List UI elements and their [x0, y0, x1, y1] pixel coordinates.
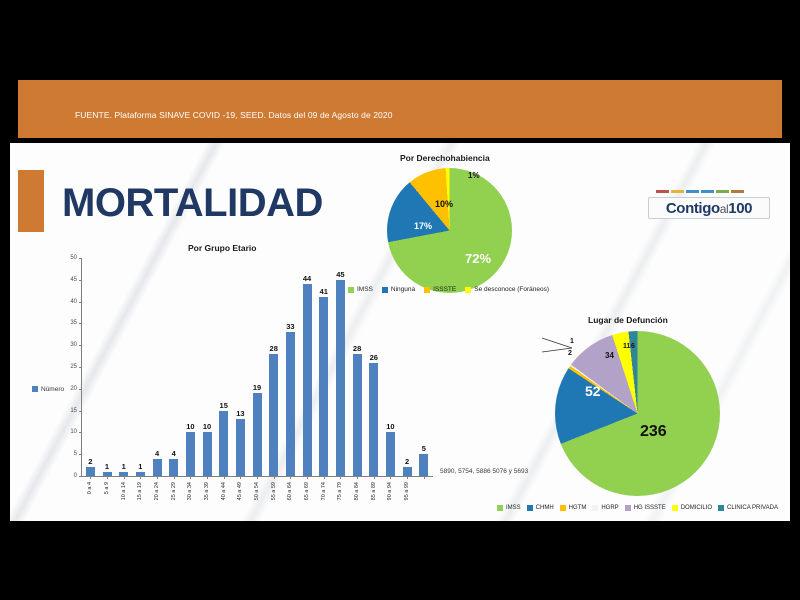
bar-rect [186, 432, 195, 476]
bar-value-label: 1 [105, 462, 109, 471]
bar-value-label: 1 [138, 462, 142, 471]
logo-bar-3 [701, 190, 714, 193]
x-tick-mark [157, 476, 158, 479]
x-tick-label: 45 a 49 [237, 482, 243, 500]
bar-value-label: 41 [320, 287, 328, 296]
x-label-cell: 85 a 89 [365, 480, 382, 520]
bar-column: 19 [249, 258, 266, 476]
x-tick-mark [240, 476, 241, 479]
legend-swatch [382, 287, 388, 293]
pie2-value-hgtm: 2 [568, 350, 572, 357]
x-label-cell: 5 a 9 [99, 480, 116, 520]
x-label-cell: 25 a 29 [165, 480, 182, 520]
x-label-cell: 55 a 59 [265, 480, 282, 520]
bar-column: 4 [165, 258, 182, 476]
bar-rect [236, 419, 245, 476]
x-label-cell: 60 a 64 [282, 480, 299, 520]
x-tick-label: 80 a 84 [354, 482, 360, 500]
presentation-slide: MORTALIDAD Por Grupo Etario Por Derechoh… [10, 143, 790, 521]
bar-column: 4 [149, 258, 166, 476]
bar-value-label: 2 [88, 457, 92, 466]
legend-swatch [592, 505, 598, 511]
y-tick-50: 50 [70, 255, 77, 261]
x-tick-label: 20 a 24 [154, 482, 160, 500]
y-tick-5: 5 [74, 451, 77, 457]
y-tick-10: 10 [70, 429, 77, 435]
bar-rect [269, 354, 278, 476]
logo-text: Contigoal100 [666, 200, 752, 217]
x-tick-mark [274, 476, 275, 479]
x-label-cell: 75 a 79 [332, 480, 349, 520]
x-axis-labels: 0 a 45 a 910 a 1415 a 1920 a 2425 a 2930… [82, 480, 432, 520]
x-label-cell: 50 a 54 [249, 480, 266, 520]
logo-bar-0 [656, 190, 669, 193]
bar-value-label: 26 [370, 353, 378, 362]
bar-value-label: 1 [122, 462, 126, 471]
x-label-cell: 10 a 14 [115, 480, 132, 520]
bar-value-label: 19 [253, 383, 261, 392]
pie1-legend-item: Se desconoce (Foráneos) [465, 286, 549, 293]
bar-column: 45 [332, 258, 349, 476]
y-tick-45: 45 [70, 277, 77, 283]
pie2-legend: IMSSCHMHHGTMHGRPHG ISSSTEDOMICILIOCLINIC… [497, 505, 778, 511]
x-tick-label: 95 a 99 [404, 482, 410, 500]
x-tick-mark [290, 476, 291, 479]
pie1-value-ninguna: 17% [414, 221, 432, 231]
x-tick-label: 65 a 69 [304, 482, 310, 500]
x-tick-mark [374, 476, 375, 479]
x-tick-label: 15 a 19 [137, 482, 143, 500]
legend-swatch [672, 505, 678, 511]
x-tick-mark [424, 476, 425, 479]
bar-value-label: 13 [236, 409, 244, 418]
bar-value-label: 33 [286, 322, 294, 331]
legend-swatch [527, 505, 533, 511]
bar-column: 1 [132, 258, 149, 476]
bottom-letterbox [0, 521, 800, 600]
bar-column: 41 [315, 258, 332, 476]
pie2-legend-item: HGRP [592, 505, 618, 511]
bar-rect [319, 297, 328, 476]
x-tick-mark [190, 476, 191, 479]
bar-rect [369, 363, 378, 476]
bar-rect [419, 454, 428, 476]
pie1-value-issste: 10% [435, 199, 453, 209]
legend-swatch [424, 287, 430, 293]
bar-chart-annotation: 5890, 5754, 5886 5076 y 5693 [440, 468, 528, 477]
logo-bar-5 [731, 190, 744, 193]
bar-value-label: 15 [220, 401, 228, 410]
x-tick-mark [90, 476, 91, 479]
x-tick-mark [124, 476, 125, 479]
pie1-title: Por Derechohabiencia [400, 153, 490, 163]
legend-label: CLINICA PRIVADA [727, 505, 778, 511]
x-tick-label: 55 a 59 [271, 482, 277, 500]
x-label-cell: 90 a 94 [382, 480, 399, 520]
y-tick-35: 35 [70, 320, 77, 326]
x-tick-mark [307, 476, 308, 479]
legend-label: HGRP [601, 505, 618, 511]
bar-rect [153, 459, 162, 476]
x-tick-label: 60 a 64 [287, 482, 293, 500]
bar-rect [286, 332, 295, 476]
bar-rect [219, 411, 228, 476]
x-tick-label: 30 a 34 [187, 482, 193, 500]
pie2-legend-item: HG ISSSTE [625, 505, 666, 511]
x-label-cell: 20 a 24 [149, 480, 166, 520]
bar-value-label: 44 [303, 274, 311, 283]
pie2-title: Lugar de Defunción [588, 315, 668, 325]
bar-chart: Número 05101520253035404550 211144101015… [30, 258, 450, 518]
bar-rect [386, 432, 395, 476]
x-tick-label: 10 a 14 [121, 482, 127, 500]
x-tick-label: 40 a 44 [221, 482, 227, 500]
x-tick-mark [207, 476, 208, 479]
x-tick-mark [140, 476, 141, 479]
bar-rect [403, 467, 412, 476]
bar-column: 28 [265, 258, 282, 476]
legend-swatch [625, 505, 631, 511]
pie2-value-clinica-privada: 6 [631, 343, 635, 350]
pie2-legend-item: CHMH [527, 505, 554, 511]
source-band [18, 80, 782, 138]
y-tick-20: 20 [70, 386, 77, 392]
bar-column: 10 [199, 258, 216, 476]
pie2-value-domicilio: 11 [623, 343, 630, 350]
legend-swatch [718, 505, 724, 511]
pie1-value-imss: 72% [465, 251, 491, 266]
x-label-cell: 30 a 34 [182, 480, 199, 520]
bar-value-label: 4 [155, 449, 159, 458]
bar-value-label: 10 [203, 422, 211, 431]
y-tick-0: 0 [74, 473, 77, 479]
bar-value-label: 2 [405, 457, 409, 466]
x-tick-label: 70 a 74 [321, 482, 327, 500]
bar-column: 44 [299, 258, 316, 476]
y-tick-30: 30 [70, 342, 77, 348]
legend-label: IMSS [506, 505, 521, 511]
legend-label: HG ISSSTE [634, 505, 666, 511]
bar-column: 15 [215, 258, 232, 476]
x-label-cell: 65 a 69 [299, 480, 316, 520]
x-tick-mark [174, 476, 175, 479]
x-tick-mark [324, 476, 325, 479]
bar-value-label: 10 [186, 422, 194, 431]
logo-bar-2 [686, 190, 699, 193]
page-title: MORTALIDAD [62, 181, 323, 226]
x-label-cell: 15 a 19 [132, 480, 149, 520]
bar-value-label: 10 [386, 422, 394, 431]
bar-rect [203, 432, 212, 476]
legend-swatch [348, 287, 354, 293]
bar-column: 1 [99, 258, 116, 476]
pie1-legend: IMSSNingunaISSSTESe desconoce (Foráneos) [348, 286, 549, 293]
x-label-cell: 95 a 99 [399, 480, 416, 520]
pie2-legend-item: CLINICA PRIVADA [718, 505, 778, 511]
x-tick-mark [357, 476, 358, 479]
x-tick-label: 0 a 4 [87, 482, 93, 494]
bar-value-label: 45 [336, 270, 344, 279]
legend-label: IMSS [357, 286, 373, 293]
pie2-value-hgrp: 1 [570, 338, 574, 345]
bar-value-label: 28 [353, 344, 361, 353]
legend-swatch [497, 505, 503, 511]
bar-column: 1 [115, 258, 132, 476]
logo-bar-1 [671, 190, 684, 193]
legend-label: CHMH [536, 505, 554, 511]
x-tick-label: 5 a 9 [104, 482, 110, 494]
logo-bar-4 [716, 190, 729, 193]
pie2-legend-item: IMSS [497, 505, 521, 511]
title-accent-bar [18, 170, 44, 232]
logo-color-bars [656, 190, 744, 193]
x-tick-mark [107, 476, 108, 479]
legend-swatch [560, 505, 566, 511]
bar-value-label: 5 [422, 444, 426, 453]
y-axis: 05101520253035404550 [30, 258, 82, 476]
bar-value-label: 4 [172, 449, 176, 458]
legend-label: Se desconoce (Foráneos) [474, 286, 549, 293]
pie1-legend-item: ISSSTE [424, 286, 456, 293]
slide-screenshot: FUENTE. Plataforma SINAVE COVID -19, SEE… [0, 0, 800, 600]
pie2-legend-item: HGTM [560, 505, 587, 511]
x-tick-label: 35 a 39 [204, 482, 210, 500]
source-text: FUENTE. Plataforma SINAVE COVID -19, SEE… [75, 110, 393, 120]
pie2-value-hg-issste: 34 [605, 351, 614, 360]
bar-rect [353, 354, 362, 476]
x-tick-mark [340, 476, 341, 479]
bar-rect [169, 459, 178, 476]
pie2-value-imss: 236 [640, 423, 667, 441]
x-label-cell: 35 a 39 [199, 480, 216, 520]
y-tick-25: 25 [70, 364, 77, 370]
pie2-value-chmh: 52 [585, 383, 601, 399]
x-tick-label: 75 a 79 [337, 482, 343, 500]
x-label-cell: 70 a 74 [315, 480, 332, 520]
legend-label: DOMICILIO [681, 505, 712, 511]
logo-box: Contigoal100 [648, 197, 770, 219]
y-tick-15: 15 [70, 408, 77, 414]
x-tick-mark [390, 476, 391, 479]
x-label-cell [415, 480, 432, 520]
x-tick-label: 90 a 94 [387, 482, 393, 500]
pie1-legend-item: Ninguna [382, 286, 415, 293]
bar-rect [303, 284, 312, 476]
bar-column: 10 [182, 258, 199, 476]
bar-rect [253, 393, 262, 476]
bar-column: 33 [282, 258, 299, 476]
pie1-legend-item: IMSS [348, 286, 373, 293]
bar-rect [86, 467, 95, 476]
pie2-legend-item: DOMICILIO [672, 505, 712, 511]
x-tick-label: 25 a 29 [171, 482, 177, 500]
y-tick-40: 40 [70, 299, 77, 305]
contigo-al-100-logo: Contigoal100 [648, 188, 770, 220]
bar-chart-title: Por Grupo Etario [188, 243, 256, 253]
bar-rect [336, 280, 345, 476]
x-label-cell: 80 a 84 [349, 480, 366, 520]
x-label-cell: 40 a 44 [215, 480, 232, 520]
legend-label: HGTM [569, 505, 587, 511]
legend-label: Ninguna [391, 286, 415, 293]
x-tick-mark [257, 476, 258, 479]
x-label-cell: 45 a 49 [232, 480, 249, 520]
bar-column: 13 [232, 258, 249, 476]
pie2-leader-lines [542, 335, 582, 357]
x-tick-label: 85 a 89 [371, 482, 377, 500]
x-tick-mark [224, 476, 225, 479]
x-tick-mark [407, 476, 408, 479]
bar-column: 2 [82, 258, 99, 476]
x-tick-label: 50 a 54 [254, 482, 260, 500]
bar-value-label: 28 [270, 344, 278, 353]
pie1-value-desconoce: 1% [468, 171, 480, 180]
legend-label: ISSSTE [433, 286, 456, 293]
x-label-cell: 0 a 4 [82, 480, 99, 520]
legend-swatch [465, 287, 471, 293]
pie-chart-derechohabiencia [387, 168, 512, 293]
